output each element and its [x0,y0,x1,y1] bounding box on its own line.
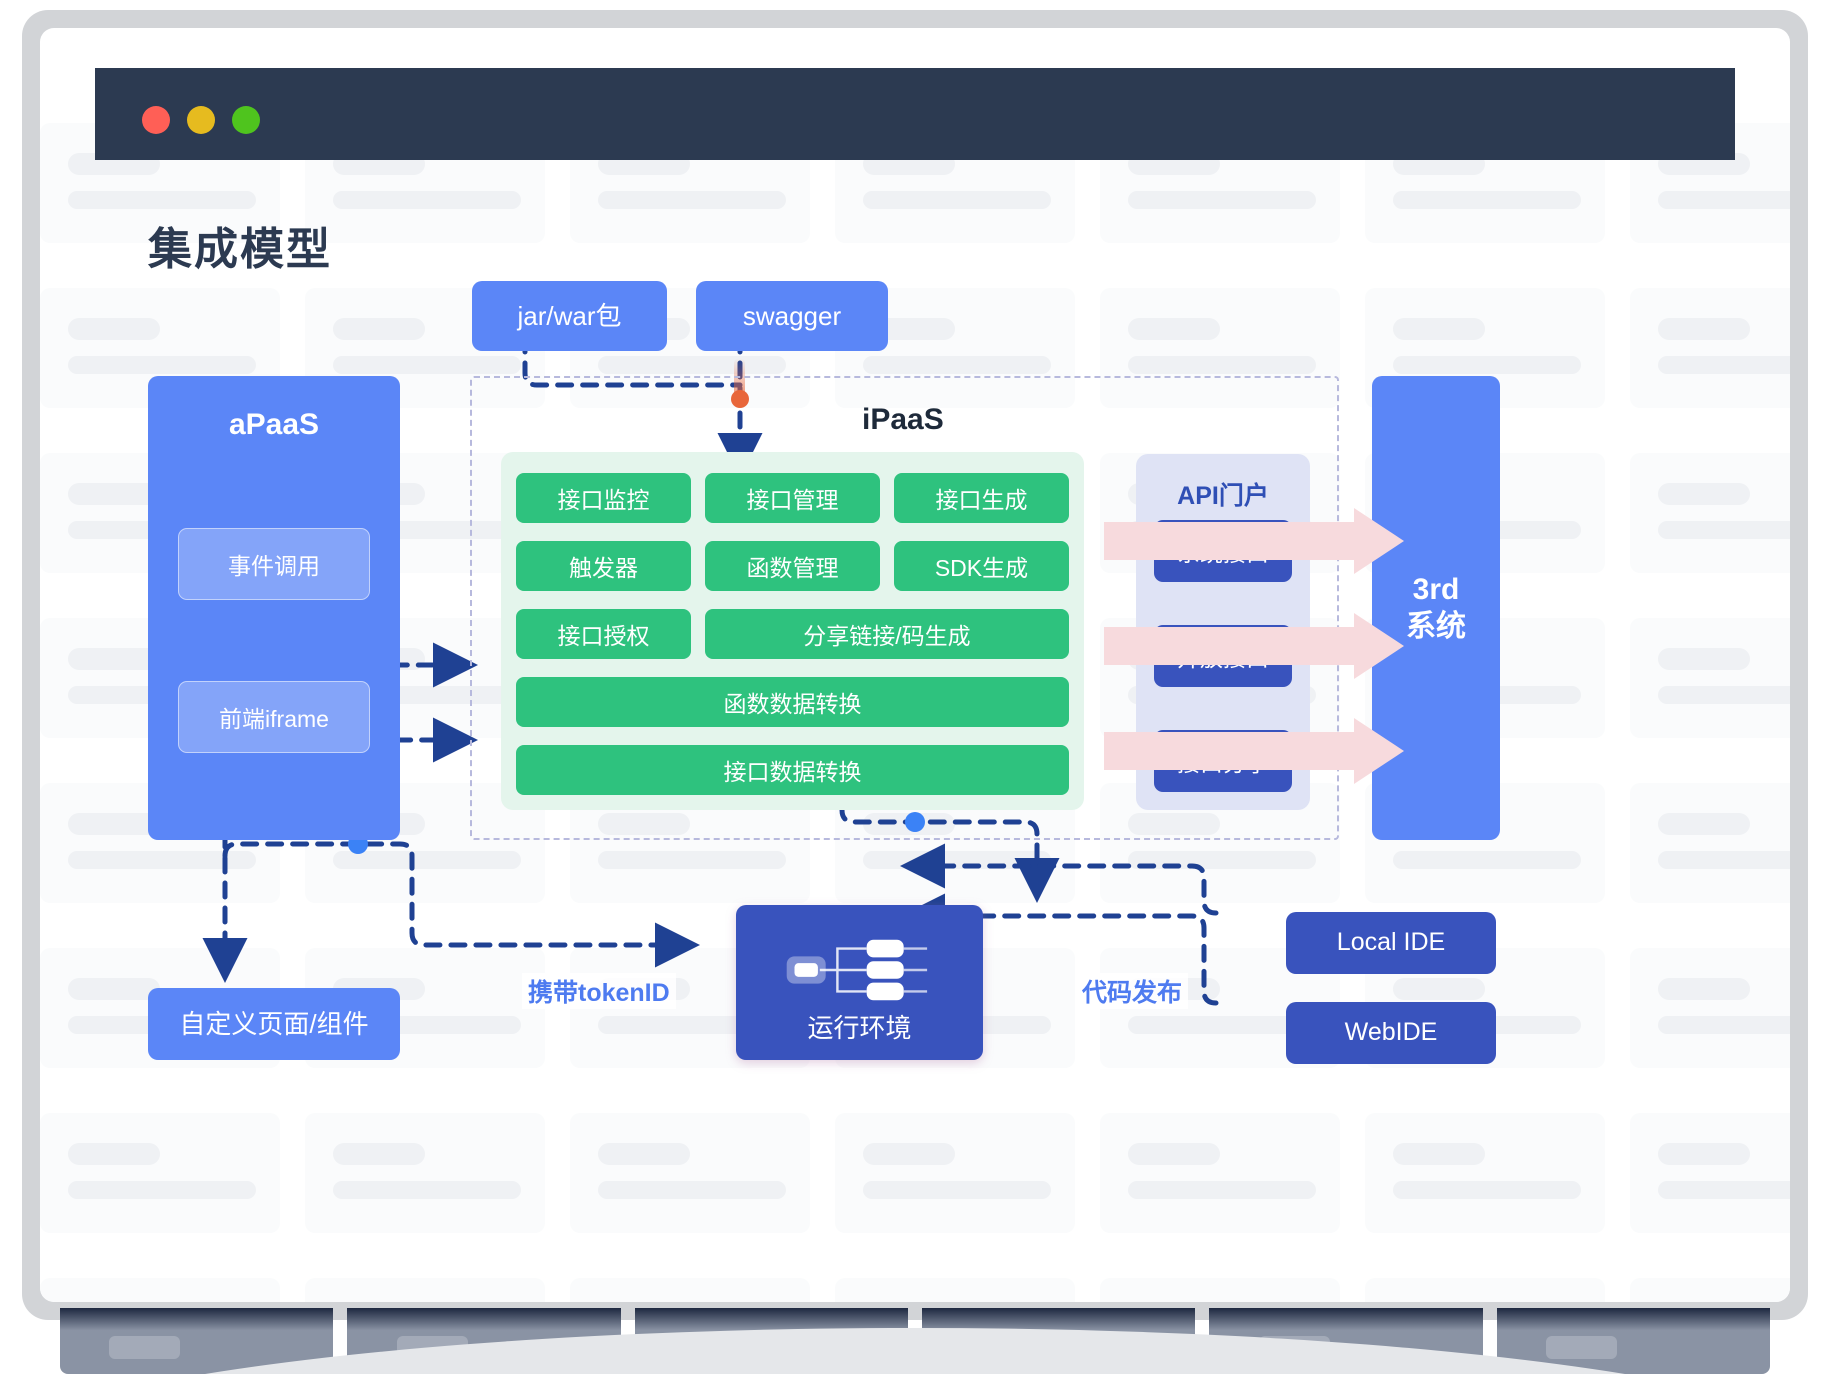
node-swagger[interactable]: swagger [696,281,888,351]
wire-label-deploy: 代码发布 [1076,973,1188,1009]
third-party-line1: 3rd [1413,571,1460,609]
laptop-shell: 集成模型 jar/war包 swagger aPaaS 事件调用 前端ifram… [22,10,1808,1320]
capability-function-manage[interactable]: 函数管理 [705,541,880,591]
node-jar-war-package[interactable]: jar/war包 [472,281,667,351]
flow-arrow-share-icon [1104,716,1434,786]
apaas-title: aPaaS [148,408,400,442]
integration-model-diagram: 集成模型 jar/war包 swagger aPaaS 事件调用 前端ifram… [40,28,1790,1302]
capability-api-generate[interactable]: 接口生成 [894,473,1069,523]
capability-api-authorize[interactable]: 接口授权 [516,609,691,659]
node-web-ide[interactable]: WebIDE [1286,1002,1496,1064]
apaas-item-frontend-iframe[interactable]: 前端iframe [178,681,370,753]
wire-label-token: 携带tokenID [522,973,676,1009]
flow-arrow-open-icon [1104,611,1434,681]
capability-function-data-transform[interactable]: 函数数据转换 [516,677,1069,727]
capability-trigger[interactable]: 触发器 [516,541,691,591]
node-runtime-environment[interactable]: 运行环境 [736,905,983,1060]
ipaas-title: iPaaS [862,403,944,437]
page-title: 集成模型 [148,213,332,277]
laptop-base [60,1308,1770,1374]
apaas-panel: aPaaS 事件调用 前端iframe [148,376,400,840]
capability-share-link-code[interactable]: 分享链接/码生成 [705,609,1069,659]
capability-api-monitor[interactable]: 接口监控 [516,473,691,523]
node-custom-page-component[interactable]: 自定义页面/组件 [148,988,400,1060]
runtime-label: 运行环境 [807,1012,911,1045]
flow-arrow-system-icon [1104,506,1434,576]
capability-api-data-transform[interactable]: 接口数据转换 [516,745,1069,795]
node-local-ide[interactable]: Local IDE [1286,912,1496,974]
capability-sdk-generate[interactable]: SDK生成 [894,541,1069,591]
capability-api-manage[interactable]: 接口管理 [705,473,880,523]
apaas-item-event-call[interactable]: 事件调用 [178,528,370,600]
ipaas-capability-panel: 接口监控 接口管理 接口生成 触发器 函数管理 SDK生成 接口授权 分享链接/… [501,452,1084,810]
screen: 集成模型 jar/war包 swagger aPaaS 事件调用 前端ifram… [40,28,1790,1302]
hierarchy-tree-icon [736,931,970,1009]
